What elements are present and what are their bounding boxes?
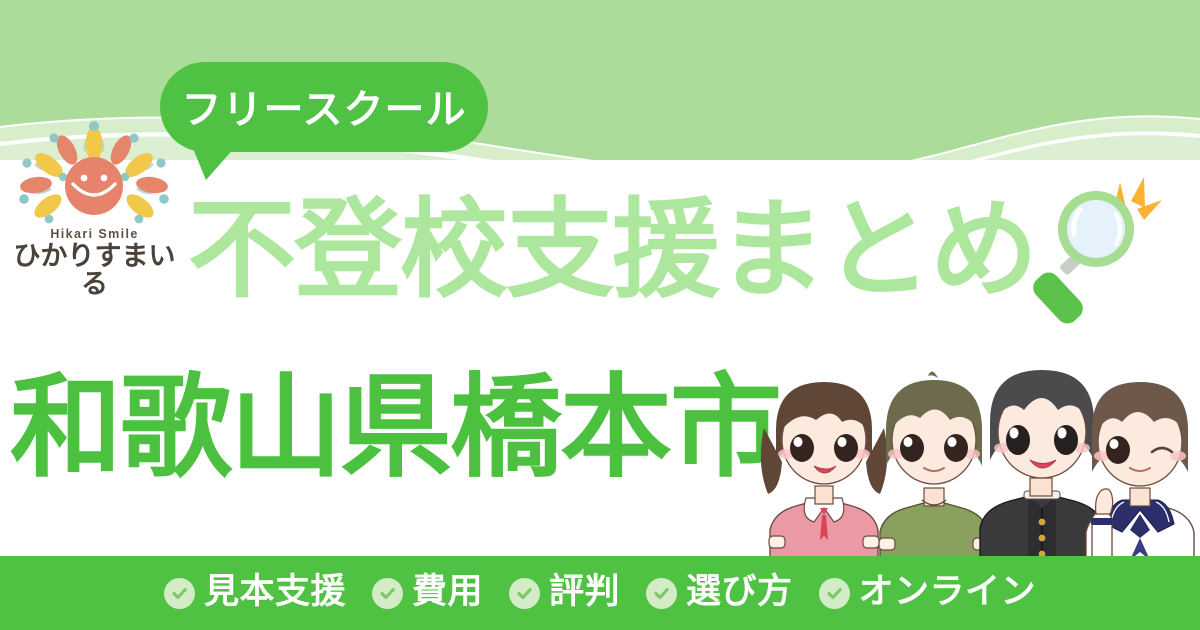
- feature-tag-0[interactable]: 見本支援: [164, 574, 346, 612]
- banner-canvas: Hikari Smile ひかりすまいる フリースクール 不登校支援まとめ 和歌…: [0, 0, 1200, 630]
- feature-tag-label: 評判: [549, 574, 620, 612]
- headline-line-2: 和歌山県橋本市: [10, 372, 780, 484]
- feature-tag-3[interactable]: 選び方: [646, 574, 793, 612]
- character-girl-pigtails-pink-dress: [761, 382, 887, 560]
- feature-tag-4[interactable]: オンライン: [819, 574, 1037, 612]
- student-characters-group: [758, 368, 1200, 560]
- feature-tag-label: 選び方: [686, 574, 793, 612]
- check-circle-icon: [164, 578, 195, 609]
- feature-tag-label: オンライン: [859, 574, 1037, 612]
- headline-line-1: 不登校支援まとめ: [188, 196, 1036, 304]
- check-circle-icon: [509, 578, 540, 609]
- feature-tag-label: 見本支援: [204, 574, 346, 612]
- category-badge-label: フリースクール: [160, 62, 488, 152]
- character-boy-green-shirt: [879, 371, 989, 560]
- feature-tag-label: 費用: [412, 574, 483, 612]
- check-circle-icon: [646, 578, 677, 609]
- character-girl-sailor-uniform-thumbs-up: [1086, 382, 1194, 560]
- logo-kana-text: ひかりすまいる: [2, 242, 187, 299]
- feature-tag-2[interactable]: 評判: [509, 574, 620, 612]
- check-circle-icon: [819, 578, 850, 609]
- magnifying-glass-icon: [1032, 172, 1192, 347]
- logo-romaji-text: Hikari Smile: [2, 227, 187, 241]
- feature-tag-bar: 見本支援 費用 評判 選び方 オンライン: [0, 556, 1200, 630]
- logo-face: [65, 157, 123, 215]
- feature-tag-1[interactable]: 費用: [372, 574, 483, 612]
- category-badge[interactable]: フリースクール: [160, 62, 488, 152]
- check-circle-icon: [372, 578, 403, 609]
